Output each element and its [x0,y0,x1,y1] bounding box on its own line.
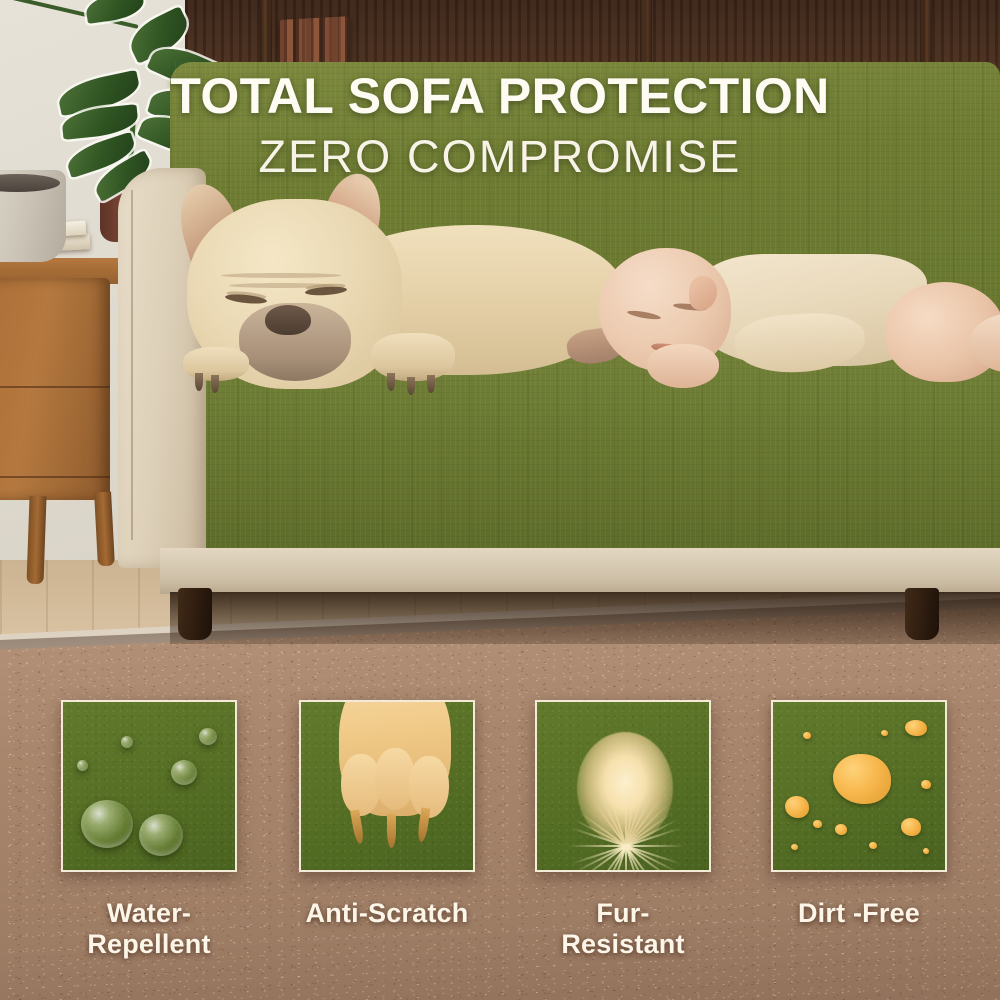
crumb [803,732,811,739]
feature-label: Water-Repellent [61,898,237,960]
feature-label: Fur-Resistant [535,898,711,960]
fur-tuft-icon [535,700,711,872]
dog-eye [225,293,268,305]
baby-eye [627,309,662,321]
crumb [905,720,927,736]
ceramic-bowl [0,170,66,262]
headline-block: TOTAL SOFA PROTECTION ZERO COMPROMISE [0,70,1000,183]
crumb [869,842,877,849]
crumb [921,780,931,789]
water-drop [77,760,88,771]
dog-nose [265,305,311,335]
sleeping-dog [175,185,625,410]
crumb [923,848,929,854]
sofa-leg [178,588,212,640]
feature-label: Dirt -Free [771,898,947,929]
water-drop [139,814,183,856]
paw-claw [387,814,396,848]
baby-hand [647,344,719,388]
crumbs-icon [771,700,947,872]
water-droplets-icon [61,700,237,872]
dog-paw-icon [299,700,475,872]
sleeping-baby [585,240,1000,405]
dog-claw [195,373,203,391]
crumb [881,730,888,736]
crumb [785,796,809,818]
table-leg [26,496,46,585]
table-drawers [0,278,110,500]
fur-core [577,732,673,844]
dog-wrinkle [221,273,341,278]
feature-strip: Water-Repellent Anti-Scratch [0,700,1000,960]
water-drop [171,760,197,785]
water-drop [121,736,133,748]
feature-item-fur-resistant[interactable]: Fur-Resistant [535,700,711,960]
water-drop [81,800,133,848]
water-drop [199,728,217,745]
dog-claw [211,375,219,393]
dog-claw [407,377,415,395]
sofa-leg [905,588,939,640]
dog-claw [427,375,435,393]
feature-label: Anti-Scratch [299,898,475,929]
crumb [791,844,798,850]
dog-claw [387,373,395,391]
page-subtitle: ZERO COMPROMISE [0,130,1000,183]
crumb [813,820,822,828]
crumb [833,754,891,804]
sofa-under-shadow [170,592,1000,644]
crumb [901,818,921,836]
feature-item-dirt-free[interactable]: Dirt -Free [771,700,947,929]
crumb [835,824,847,835]
feature-item-anti-scratch[interactable]: Anti-Scratch [299,700,475,929]
page-title: TOTAL SOFA PROTECTION [0,70,1000,123]
dog-paw [371,333,455,381]
feature-item-water-repellent[interactable]: Water-Repellent [61,700,237,960]
sofa-base [160,548,1000,594]
ad-canvas: TOTAL SOFA PROTECTION ZERO COMPROMISE Wa… [0,0,1000,1000]
